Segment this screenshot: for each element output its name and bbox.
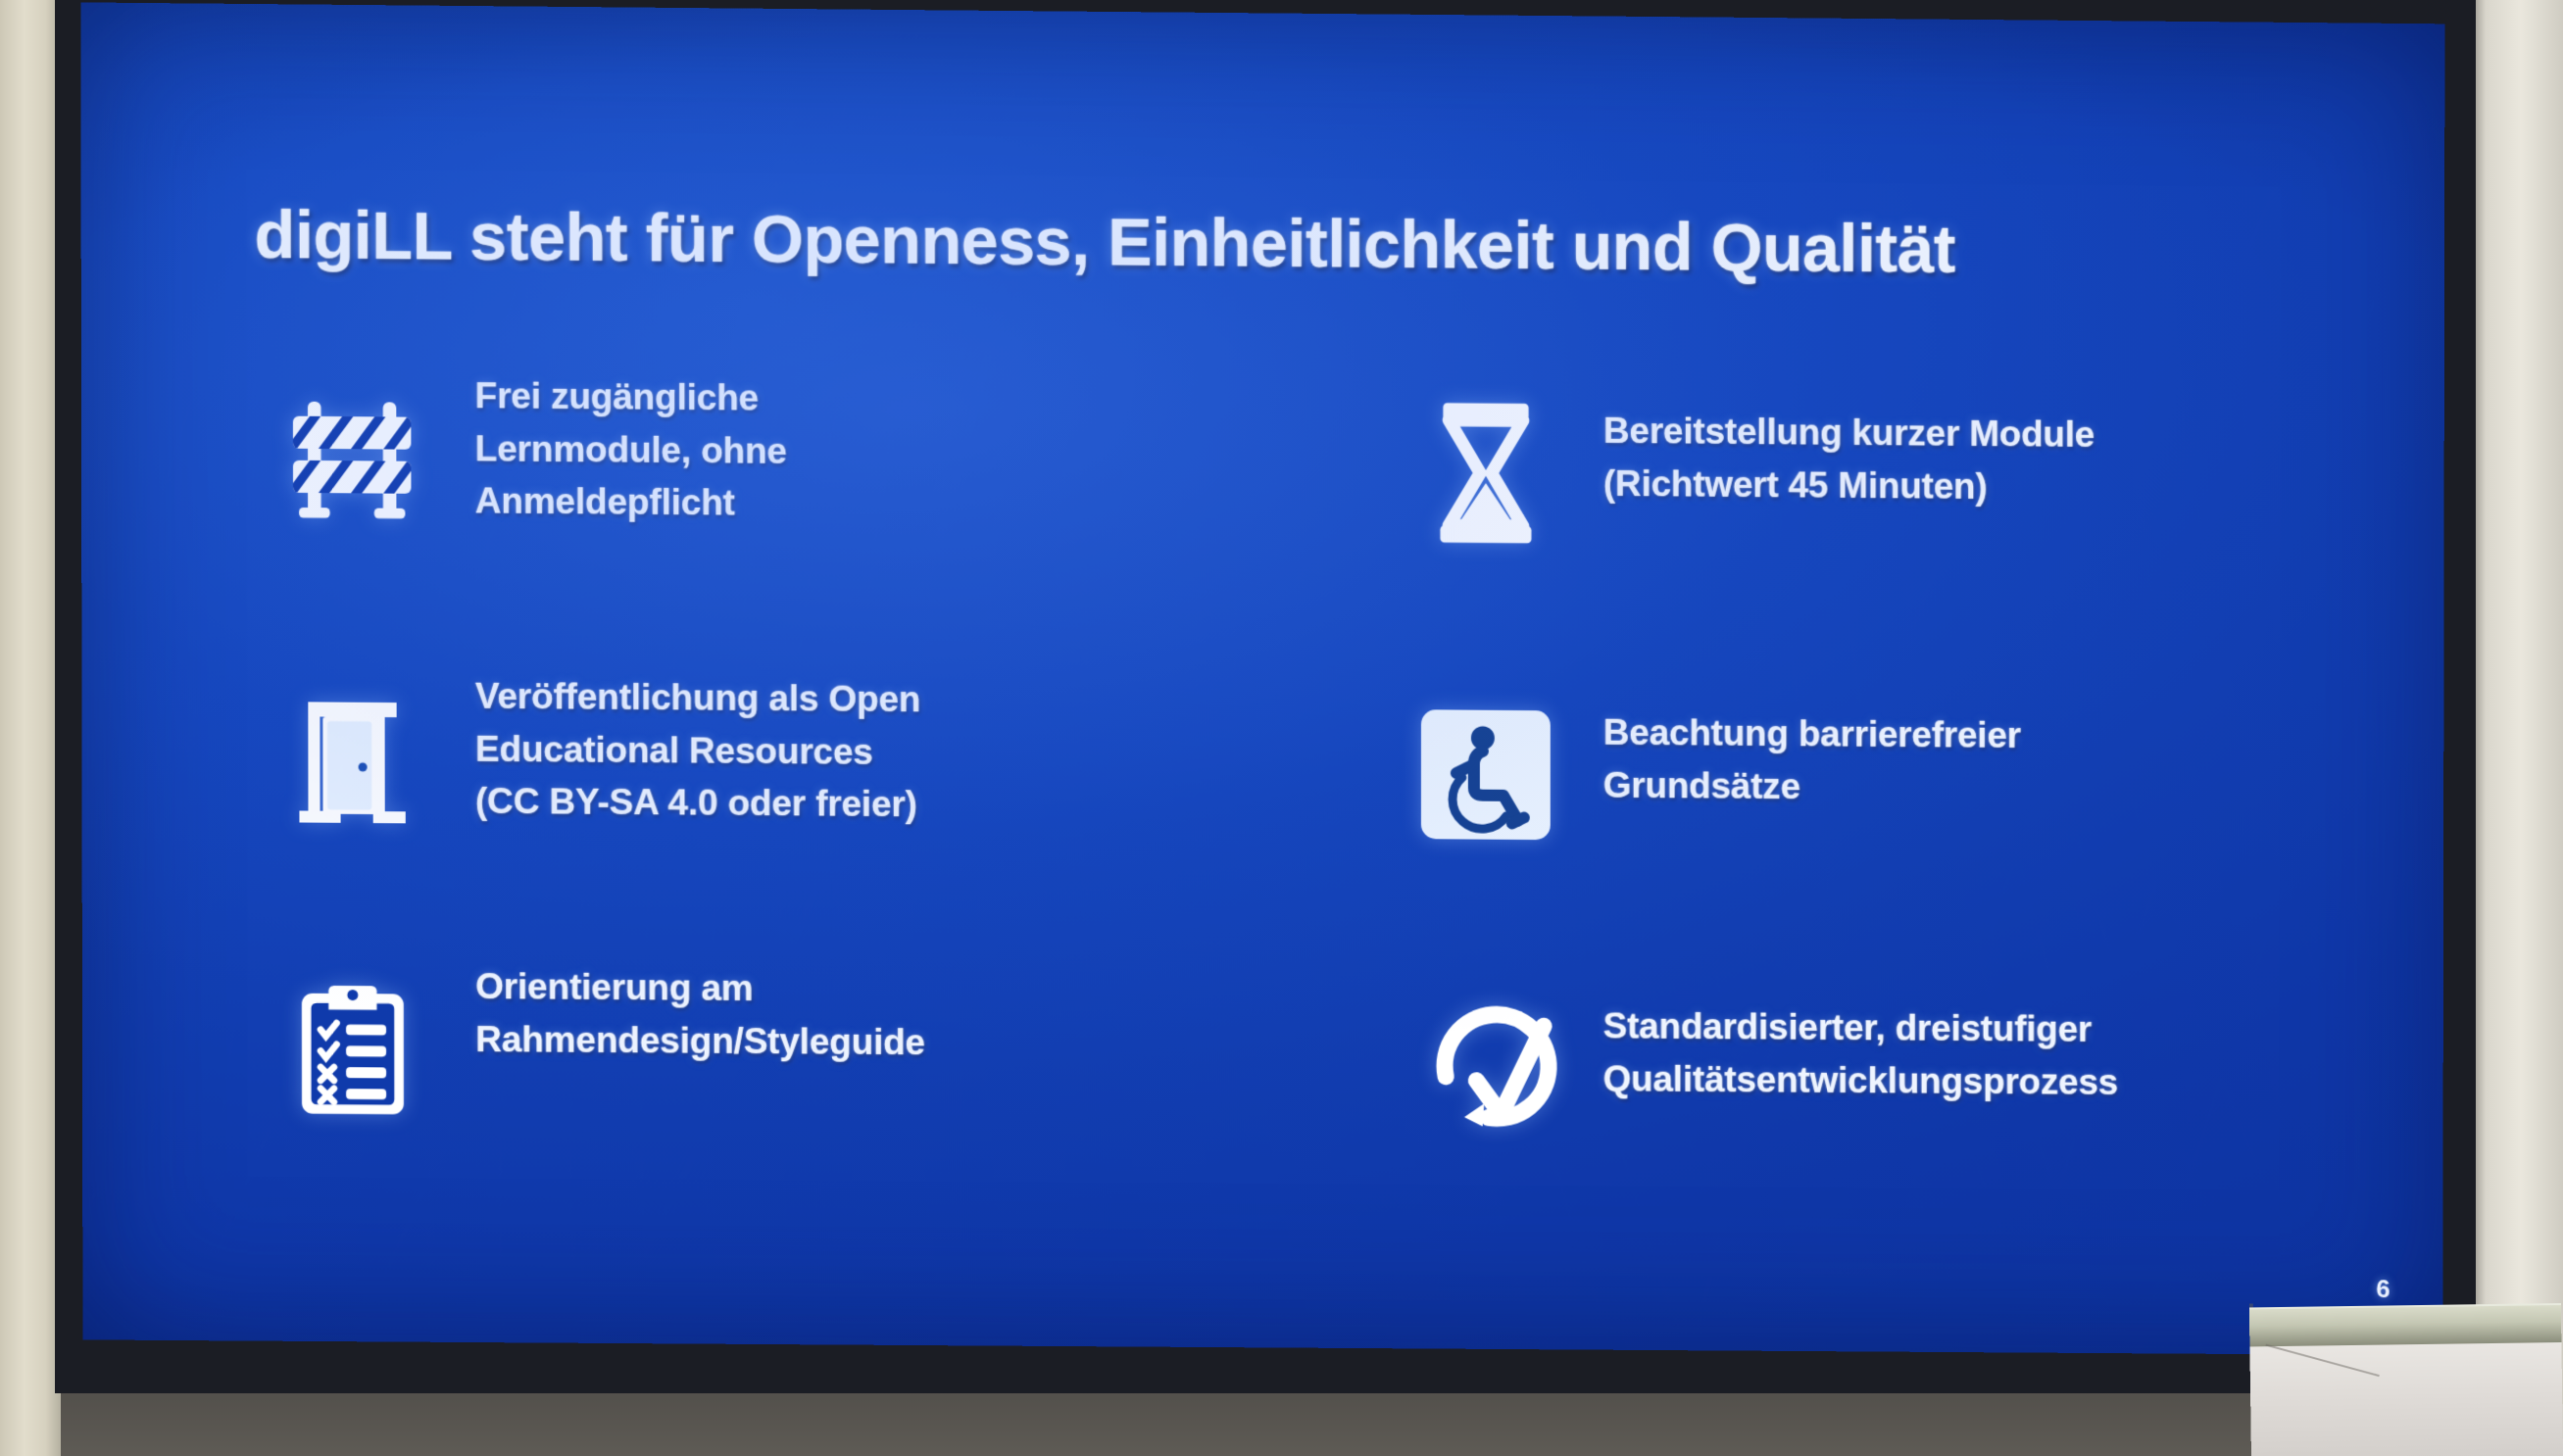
wall-right: [2469, 0, 2563, 1456]
feature-line: Qualitätsentwicklungsprozess: [1603, 1052, 2119, 1108]
feature-line: Educational Resources: [475, 722, 920, 778]
feature-line: Lernmodule, ohne: [475, 422, 787, 477]
feature-line: Grundsätze: [1603, 758, 2021, 814]
feature-text: Veröffentlichung als Open Educational Re…: [475, 656, 920, 832]
wall-left: [0, 0, 61, 1456]
feature-line: Standardisierter, dreistufiger: [1603, 999, 2119, 1055]
feature-line: (Richtwert 45 Minuten): [1603, 457, 2095, 513]
hourglass-icon: [1368, 369, 1603, 577]
quality-cycle-check-icon: [1368, 965, 1603, 1172]
feature-line: Orientierung am: [475, 960, 925, 1016]
feature-item: Veröffentlichung als Open Educational Re…: [229, 655, 1231, 925]
feature-item: Bereitstellung kurzer Module (Richtwert …: [1368, 369, 2366, 640]
presentation-slide: digiLL steht für Openness, Einheitlichke…: [80, 2, 2444, 1355]
flipchart-corner: [2249, 1299, 2563, 1456]
feature-text: Standardisierter, dreistufiger Qualitäts…: [1603, 966, 2119, 1108]
feature-line: (CC BY-SA 4.0 oder freier): [475, 775, 920, 831]
right-column: Bereitstellung kurzer Module (Richtwert …: [1368, 364, 2366, 1235]
open-door-icon: [229, 655, 475, 862]
feature-columns: Frei zugängliche Lernmodule, ohne Anmeld…: [229, 354, 2367, 1234]
feature-item: Orientierung am Rahmendesign/Styleguide: [229, 945, 1231, 1214]
feature-line: Beachtung barrierefreier: [1603, 706, 2021, 762]
projected-slide-photo: digiLL steht für Openness, Einheitlichke…: [0, 0, 2563, 1456]
left-column: Frei zugängliche Lernmodule, ohne Anmeld…: [229, 354, 1231, 1226]
feature-line: Veröffentlichung als Open: [475, 670, 920, 726]
feature-text: Beachtung barrierefreier Grundsätze: [1603, 673, 2021, 814]
feature-line: Bereitstellung kurzer Module: [1603, 405, 2095, 461]
clipboard-checklist-icon: [229, 945, 475, 1152]
feature-text: Orientierung am Rahmendesign/Styleguide: [475, 946, 925, 1069]
feature-item: Standardisierter, dreistufiger Qualitäts…: [1368, 965, 2365, 1235]
feature-item: Beachtung barrierefreier Grundsätze: [1368, 671, 2366, 941]
feature-line: Frei zugängliche: [475, 369, 787, 424]
road-barrier-icon: [229, 354, 475, 562]
feature-item: Frei zugängliche Lernmodule, ohne Anmeld…: [229, 354, 1231, 625]
slide-title: digiLL steht für Openness, Einheitlichke…: [254, 197, 2264, 291]
flipchart-rail: [2249, 1303, 2562, 1346]
flipchart-paper: [2249, 1342, 2563, 1456]
slide-page-number: 6: [2376, 1274, 2390, 1304]
feature-text: Frei zugängliche Lernmodule, ohne Anmeld…: [475, 356, 787, 530]
feature-line: Anmeldepflicht: [475, 475, 787, 530]
feature-line: Rahmendesign/Styleguide: [475, 1013, 925, 1069]
wheelchair-accessibility-icon: [1368, 671, 1603, 879]
feature-text: Bereitstellung kurzer Module (Richtwert …: [1603, 371, 2095, 513]
